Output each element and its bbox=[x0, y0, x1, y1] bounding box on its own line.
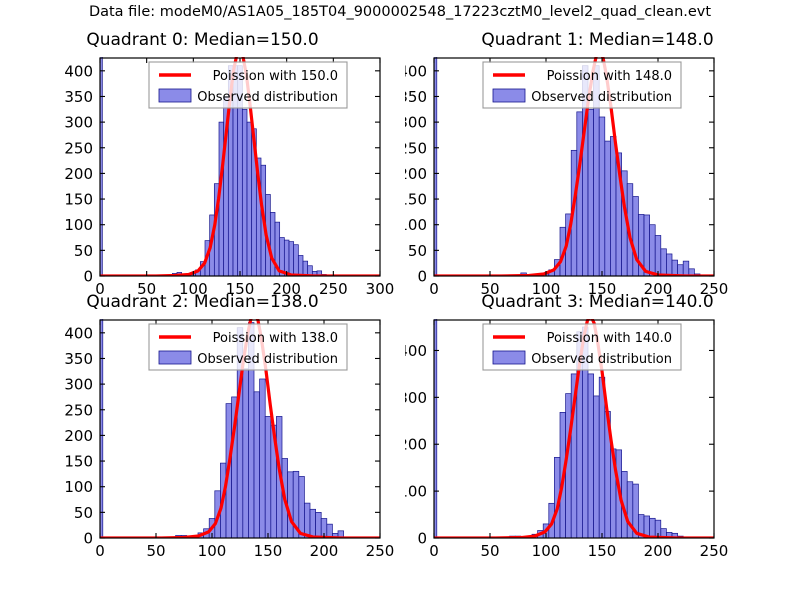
histogram-bar bbox=[299, 476, 305, 538]
y-tick-label: 400 bbox=[405, 342, 427, 360]
histogram-bar bbox=[683, 261, 689, 276]
legend[interactable]: Poission with 140.0Observed distribution bbox=[483, 324, 681, 370]
x-tick-label: 0 bbox=[95, 542, 105, 560]
y-tick-label: 0 bbox=[417, 530, 427, 548]
x-tick-label: 250 bbox=[366, 542, 395, 560]
y-tick-label: 400 bbox=[64, 324, 93, 342]
legend-label: Observed distribution bbox=[531, 352, 672, 367]
legend-patch-swatch bbox=[493, 351, 525, 364]
y-tick-label: 300 bbox=[64, 376, 93, 394]
histogram-bar bbox=[294, 245, 299, 276]
histogram-bar bbox=[594, 396, 600, 538]
x-tick-label: 0 bbox=[429, 542, 439, 560]
subplot-quadrant-3: Quadrant 3: Median=140.00501001502002500… bbox=[405, 292, 790, 582]
subplot-title-quadrant-0: Quadrant 0: Median=150.0 bbox=[10, 30, 395, 50]
plot-area-quadrant-1: 050100150200250050100150200250300350400P… bbox=[405, 30, 790, 298]
histogram-bar bbox=[577, 112, 583, 276]
subplot-quadrant-2: Quadrant 2: Median=138.00501001502002500… bbox=[10, 292, 395, 582]
y-tick-label: 0 bbox=[417, 268, 427, 286]
histogram-bar bbox=[655, 235, 661, 276]
histogram-bar bbox=[644, 215, 650, 276]
histogram-bar bbox=[247, 122, 252, 276]
histogram-bar bbox=[650, 518, 656, 538]
x-tick-label: 150 bbox=[254, 542, 283, 560]
histogram-bar bbox=[588, 374, 594, 538]
histogram-bar bbox=[288, 472, 294, 538]
x-tick-label: 200 bbox=[310, 542, 339, 560]
y-tick-label: 250 bbox=[405, 139, 427, 157]
legend[interactable]: Poission with 138.0Observed distribution bbox=[149, 324, 347, 370]
y-tick-label: 200 bbox=[405, 436, 427, 454]
legend[interactable]: Poission with 150.0Observed distribution bbox=[149, 62, 347, 108]
histogram-bar bbox=[265, 416, 271, 538]
histogram-bar bbox=[610, 136, 616, 276]
y-tick-label: 300 bbox=[405, 389, 427, 407]
legend-label: Poission with 150.0 bbox=[213, 69, 338, 84]
histogram-bar bbox=[588, 109, 594, 276]
y-tick-label: 350 bbox=[64, 88, 93, 106]
y-tick-label: 0 bbox=[83, 530, 93, 548]
legend-patch-swatch bbox=[159, 351, 191, 364]
y-tick-label: 50 bbox=[74, 242, 93, 260]
subplot-quadrant-1: Quadrant 1: Median=148.00501001502002500… bbox=[405, 30, 790, 298]
y-tick-label: 350 bbox=[64, 350, 93, 368]
subplot-title-quadrant-2: Quadrant 2: Median=138.0 bbox=[10, 292, 395, 312]
x-tick-label: 100 bbox=[198, 542, 227, 560]
x-tick-label: 50 bbox=[146, 542, 165, 560]
histogram-bar bbox=[310, 509, 316, 538]
y-tick-label: 250 bbox=[64, 401, 93, 419]
y-tick-label: 200 bbox=[64, 427, 93, 445]
figure-suptitle: Data file: modeM0/AS1A05_185T04_90000025… bbox=[0, 4, 800, 20]
y-tick-label: 100 bbox=[64, 216, 93, 234]
legend-label: Observed distribution bbox=[197, 90, 338, 105]
legend-patch-swatch bbox=[159, 89, 191, 102]
histogram-bar bbox=[633, 196, 639, 276]
y-tick-label: 200 bbox=[64, 165, 93, 183]
legend-label: Observed distribution bbox=[197, 352, 338, 367]
histogram-bar bbox=[289, 242, 294, 276]
histogram-bar bbox=[605, 141, 611, 276]
histogram-bar bbox=[672, 260, 678, 276]
histogram-bar bbox=[284, 240, 289, 276]
y-tick-label: 150 bbox=[405, 191, 427, 209]
y-tick-label: 300 bbox=[64, 114, 93, 132]
subplot-title-quadrant-3: Quadrant 3: Median=140.0 bbox=[405, 292, 790, 312]
y-tick-label: 100 bbox=[405, 483, 427, 501]
histogram-bar bbox=[599, 377, 605, 538]
y-tick-label: 150 bbox=[64, 453, 93, 471]
y-tick-label: 0 bbox=[83, 268, 93, 286]
y-tick-label: 100 bbox=[405, 216, 427, 234]
histogram-bar bbox=[650, 225, 656, 276]
x-tick-label: 100 bbox=[532, 542, 561, 560]
x-tick-label: 200 bbox=[644, 542, 673, 560]
x-tick-label: 50 bbox=[480, 542, 499, 560]
legend-label: Poission with 138.0 bbox=[213, 331, 338, 346]
histogram-bar bbox=[599, 117, 605, 276]
y-tick-label: 100 bbox=[64, 478, 93, 496]
x-tick-label: 150 bbox=[588, 542, 617, 560]
legend-label: Poission with 140.0 bbox=[547, 331, 672, 346]
histogram-bar bbox=[260, 379, 266, 538]
legend[interactable]: Poission with 148.0Observed distribution bbox=[483, 62, 681, 108]
y-tick-label: 250 bbox=[64, 139, 93, 157]
histogram-bar bbox=[270, 212, 275, 276]
y-tick-label: 50 bbox=[74, 504, 93, 522]
y-tick-label: 400 bbox=[405, 62, 427, 80]
histogram-bar bbox=[303, 261, 308, 276]
plot-area-quadrant-3: 0501001502002500100200300400Poission wit… bbox=[405, 292, 790, 582]
y-tick-label: 400 bbox=[64, 62, 93, 80]
y-tick-label: 200 bbox=[405, 165, 427, 183]
histogram-bar bbox=[661, 249, 667, 276]
legend-label: Poission with 148.0 bbox=[547, 69, 672, 84]
subplot-quadrant-0: Quadrant 0: Median=150.00501001502002503… bbox=[10, 30, 395, 298]
y-tick-label: 300 bbox=[405, 114, 427, 132]
histogram-bar bbox=[316, 512, 322, 538]
legend-patch-swatch bbox=[493, 89, 525, 102]
histogram-bar bbox=[242, 109, 247, 276]
plot-area-quadrant-2: 050100150200250050100150200250300350400P… bbox=[10, 292, 395, 582]
x-tick-label: 250 bbox=[700, 542, 729, 560]
histogram-bar bbox=[298, 255, 303, 276]
plot-area-quadrant-0: 0501001502002503000501001502002503003504… bbox=[10, 30, 395, 298]
figure-canvas: Data file: modeM0/AS1A05_185T04_90000025… bbox=[0, 0, 800, 600]
y-tick-label: 350 bbox=[405, 88, 427, 106]
y-tick-label: 150 bbox=[64, 191, 93, 209]
y-tick-label: 50 bbox=[408, 242, 427, 260]
legend-label: Observed distribution bbox=[531, 90, 672, 105]
histogram-bar bbox=[304, 503, 310, 538]
histogram-bar bbox=[666, 254, 672, 276]
subplot-title-quadrant-1: Quadrant 1: Median=148.0 bbox=[405, 30, 790, 50]
histogram-bar bbox=[243, 369, 249, 538]
histogram-bar bbox=[254, 392, 260, 538]
